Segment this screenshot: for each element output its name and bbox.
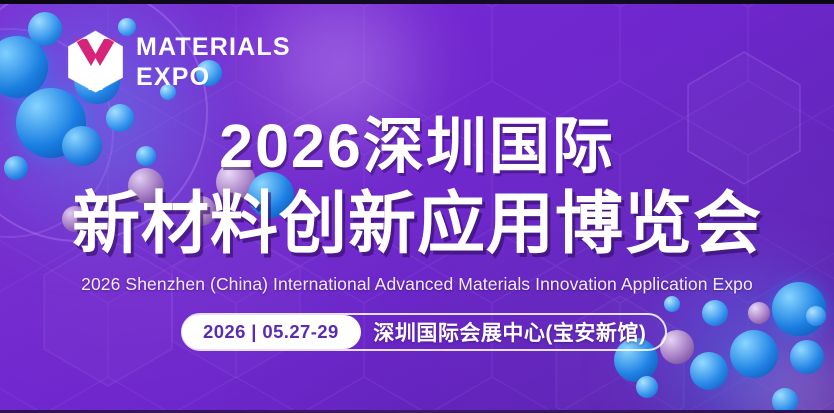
expo-banner: MATERIALS EXPO 2026深圳国际 新材料创新应用博览会 2026 … (0, 0, 834, 413)
logo-text-materials: MATERIALS (136, 35, 291, 60)
title-chinese-line1: 2026深圳国际 (0, 116, 834, 177)
event-venue-label: 深圳国际会展中心(宝安新馆) (361, 317, 665, 347)
logo-text-expo: EXPO (136, 65, 291, 90)
materials-expo-logo[interactable]: MATERIALS EXPO (64, 30, 291, 93)
title-english: 2026 Shenzhen (China) International Adva… (0, 276, 834, 294)
hexagon-nw-monogram-icon (64, 30, 127, 93)
event-info-bar: 2026 | 05.27-29 深圳国际会展中心(宝安新馆) (181, 313, 667, 351)
event-date-badge: 2026 | 05.27-29 (182, 315, 361, 349)
top-edge-band (0, 0, 834, 4)
title-chinese-line2: 新材料创新应用博览会 (0, 190, 834, 258)
